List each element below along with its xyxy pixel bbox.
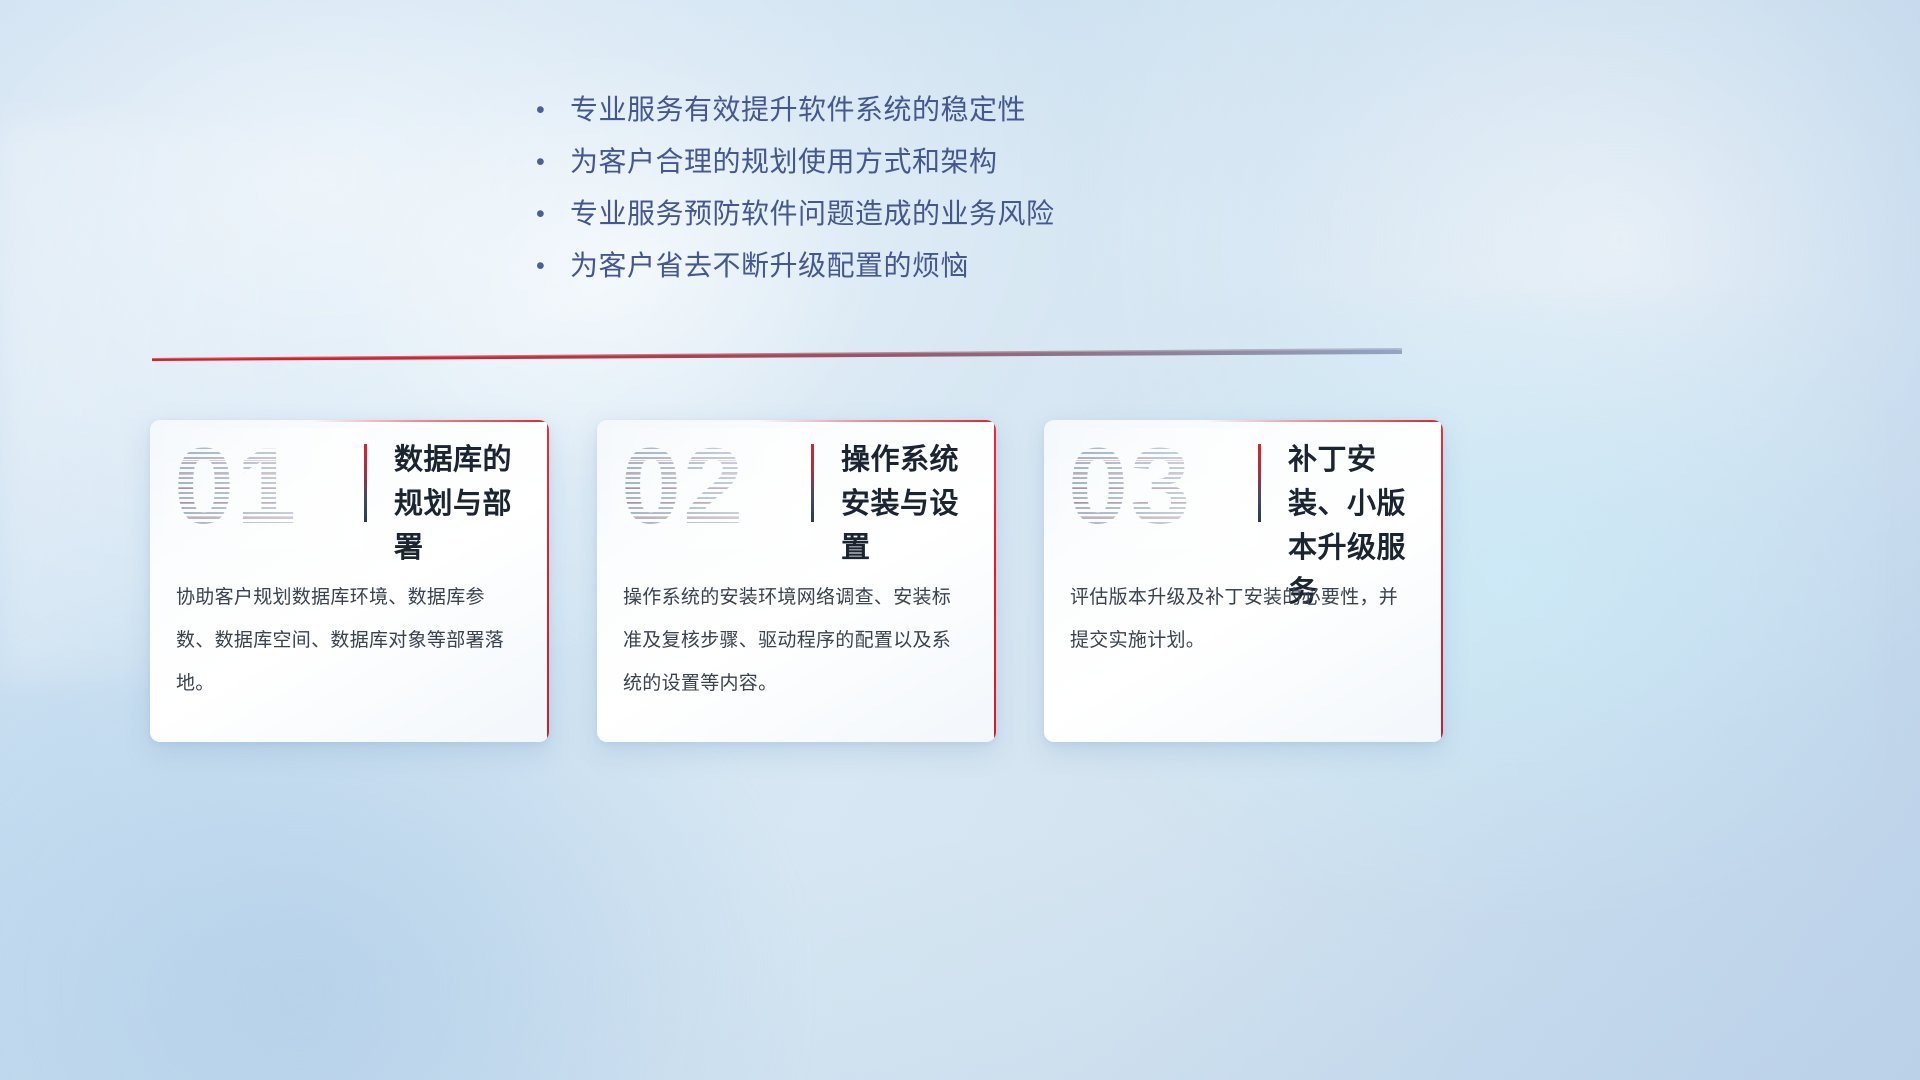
card-body-text: 评估版本升级及补丁安装的必要性，并提交实施计划。 — [1070, 576, 1417, 662]
card-body-text: 协助客户规划数据库环境、数据库参数、数据库空间、数据库对象等部署落地。 — [176, 576, 523, 705]
bullet-dot-icon: • — [536, 192, 570, 236]
bullet-dot-icon: • — [536, 244, 570, 288]
watermark-number-icon: 02 — [621, 432, 745, 540]
bullet-text-4: 为客户省去不断升级配置的烦恼 — [570, 244, 969, 288]
card-title: 数据库的规划与部署 — [394, 438, 540, 570]
service-card-02[interactable]: 02 02 操作系统安装与设置 操作系统的安装环境网络调查、安装标准及复核步骤、… — [597, 420, 996, 742]
card-header: 01 01 数据库的规划与部署 — [150, 420, 549, 570]
bullet-text-2: 为客户合理的规划使用方式和架构 — [570, 140, 998, 184]
bullet-text-3: 专业服务预防软件问题造成的业务风险 — [570, 192, 1055, 236]
list-item: • 为客户合理的规划使用方式和架构 — [536, 140, 1436, 192]
service-card-row: 01 01 数据库的规划与部署 协助客户规划数据库环境、数据库参数、数据库空间、… — [150, 420, 1443, 742]
title-accent-bar — [811, 444, 814, 522]
title-accent-bar — [1258, 444, 1261, 522]
list-item: • 专业服务有效提升软件系统的稳定性 — [536, 88, 1436, 140]
bullet-dot-icon: • — [536, 140, 570, 184]
watermark-number-icon: 03 — [1068, 432, 1192, 540]
watermark-number-icon: 01 — [174, 432, 298, 540]
list-item: • 专业服务预防软件问题造成的业务风险 — [536, 192, 1436, 244]
card-header: 03 03 补丁安装、小版本升级服务 — [1044, 420, 1443, 570]
title-accent-bar — [364, 444, 367, 522]
card-title: 操作系统安装与设置 — [841, 438, 987, 570]
benefit-bullet-list: • 专业服务有效提升软件系统的稳定性 • 为客户合理的规划使用方式和架构 • 专… — [536, 88, 1436, 296]
card-header: 02 02 操作系统安装与设置 — [597, 420, 996, 570]
bullet-text-1: 专业服务有效提升软件系统的稳定性 — [570, 88, 1026, 132]
service-card-03[interactable]: 03 03 补丁安装、小版本升级服务 评估版本升级及补丁安装的必要性，并提交实施… — [1044, 420, 1443, 742]
list-item: • 为客户省去不断升级配置的烦恼 — [536, 244, 1436, 296]
service-card-01[interactable]: 01 01 数据库的规划与部署 协助客户规划数据库环境、数据库参数、数据库空间、… — [150, 420, 549, 742]
gradient-rule — [152, 348, 1402, 364]
card-body-text: 操作系统的安装环境网络调查、安装标准及复核步骤、驱动程序的配置以及系统的设置等内… — [623, 576, 970, 705]
slide-canvas: • 专业服务有效提升软件系统的稳定性 • 为客户合理的规划使用方式和架构 • 专… — [0, 0, 1920, 1080]
bullet-dot-icon: • — [536, 88, 570, 132]
